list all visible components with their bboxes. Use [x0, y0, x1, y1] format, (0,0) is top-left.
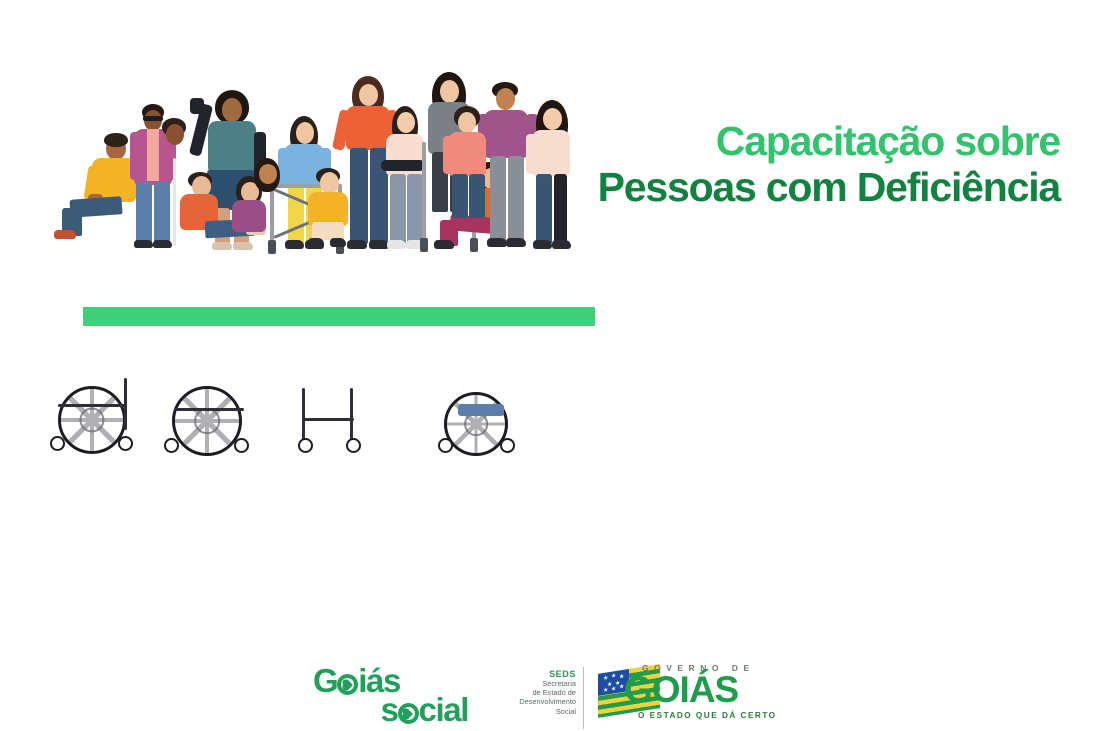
seds-line-4: Social	[496, 707, 576, 716]
illustration-stage	[40, 58, 560, 258]
governo-tagline: O ESTADO QUE DÁ CERTO	[638, 711, 777, 720]
logo-divider	[583, 667, 584, 729]
footer-logo-row: Giás scial SEDS Secretaria de Estado de …	[0, 328, 1100, 412]
seds-line-2: de Estado de	[496, 688, 576, 697]
campaign-banner: Capacitação sobre Pessoas com Deficiênci…	[0, 0, 1100, 440]
seds-line-1: Secretaria	[496, 679, 576, 688]
heart-icon-1	[337, 674, 358, 695]
prosthetic-arm	[381, 160, 425, 171]
goias-social-g: G	[313, 662, 337, 699]
governo-wordmark: GOIÁS	[624, 671, 738, 708]
heart-icon-2	[398, 703, 419, 724]
green-ground-strip	[83, 307, 595, 326]
page-title: Capacitação sobre Pessoas com Deficiênci…	[560, 118, 1060, 223]
logo-governo-de-goias: ★ ★ ★ ★ ★ ★ ★ ★ GOVERNO DE GOIÁS O ESTAD…	[598, 661, 803, 731]
logo-seds: SEDS Secretaria de Estado de Desenvolvim…	[496, 669, 576, 716]
seds-acronym: SEDS	[496, 669, 576, 679]
crutch-left	[422, 142, 426, 242]
white-cane	[173, 158, 176, 246]
logo-goias-social: Giás scial	[313, 666, 468, 724]
goias-social-cial: cial	[419, 691, 468, 728]
goias-social-s: s	[381, 691, 398, 728]
seds-line-3: Desenvolvimento	[496, 697, 576, 706]
illustration-group-of-people-with-disabilities	[40, 58, 560, 270]
headline-line-2: Pessoas com Deficiência	[560, 164, 1060, 210]
goias-social-line-2: scial	[313, 695, 468, 724]
headline-line-1: Capacitação sobre	[560, 118, 1060, 164]
